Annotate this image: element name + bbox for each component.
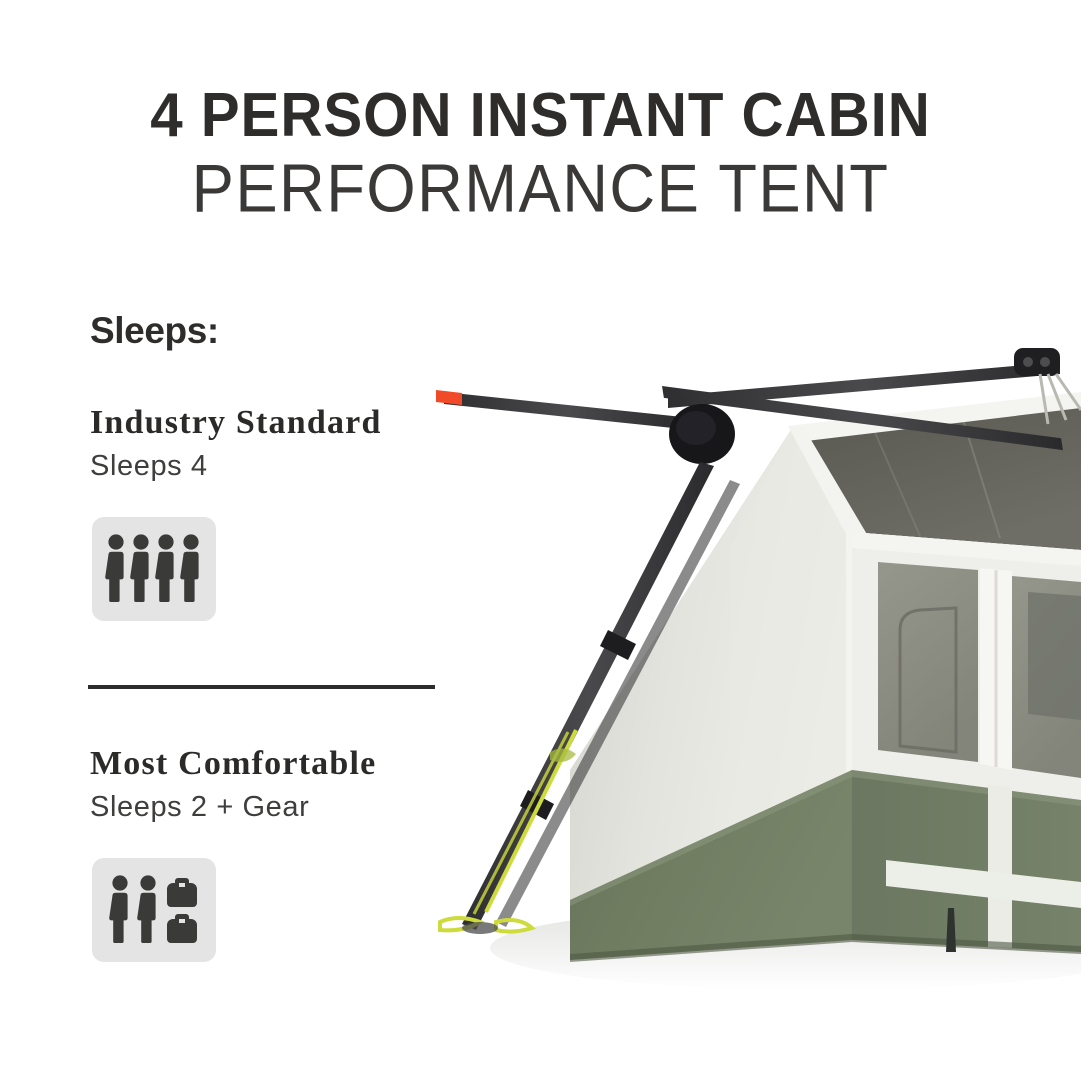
tent-guyline-loop-2 [496, 920, 532, 932]
tent-hub-left [669, 404, 735, 464]
spec-block-industry-standard: Industry Standard Sleeps 4 [88, 404, 448, 621]
spec-subtitle: Sleeps 4 [90, 450, 448, 483]
spec-block-most-comfortable: Most Comfortable Sleeps 2 + Gear [88, 745, 448, 962]
spec-title: Industry Standard [90, 404, 448, 442]
section-divider [88, 685, 435, 689]
page-subtitle: PERFORMANCE TENT [22, 154, 1060, 223]
tent-green-vertical-strap [988, 785, 1012, 948]
four-people-icon [92, 517, 216, 621]
header: 4 PERSON INSTANT CABIN PERFORMANCE TENT [0, 0, 1081, 222]
product-image [400, 300, 1081, 1081]
tent-mesh-window-1 [878, 562, 978, 762]
page-title: 4 PERSON INSTANT CABIN [32, 86, 1048, 147]
gear-bag-bottom [167, 914, 197, 943]
tent-mesh-window-2-dark [1028, 592, 1081, 720]
spec-title: Most Comfortable [90, 745, 448, 783]
tent-stake-foot [462, 922, 498, 934]
spec-subtitle: Sleeps 2 + Gear [90, 791, 448, 824]
tent-logo-accent [550, 748, 576, 762]
sleeps-spec-column: Sleeps: Industry Standard Sleeps 4 [88, 310, 448, 962]
tent-awning-arm [436, 390, 692, 430]
gear-bag-top [167, 878, 197, 907]
tent-hub-right [1014, 348, 1060, 376]
sleeps-heading: Sleeps: [90, 310, 448, 352]
two-people-plus-gear-icon [92, 858, 216, 962]
